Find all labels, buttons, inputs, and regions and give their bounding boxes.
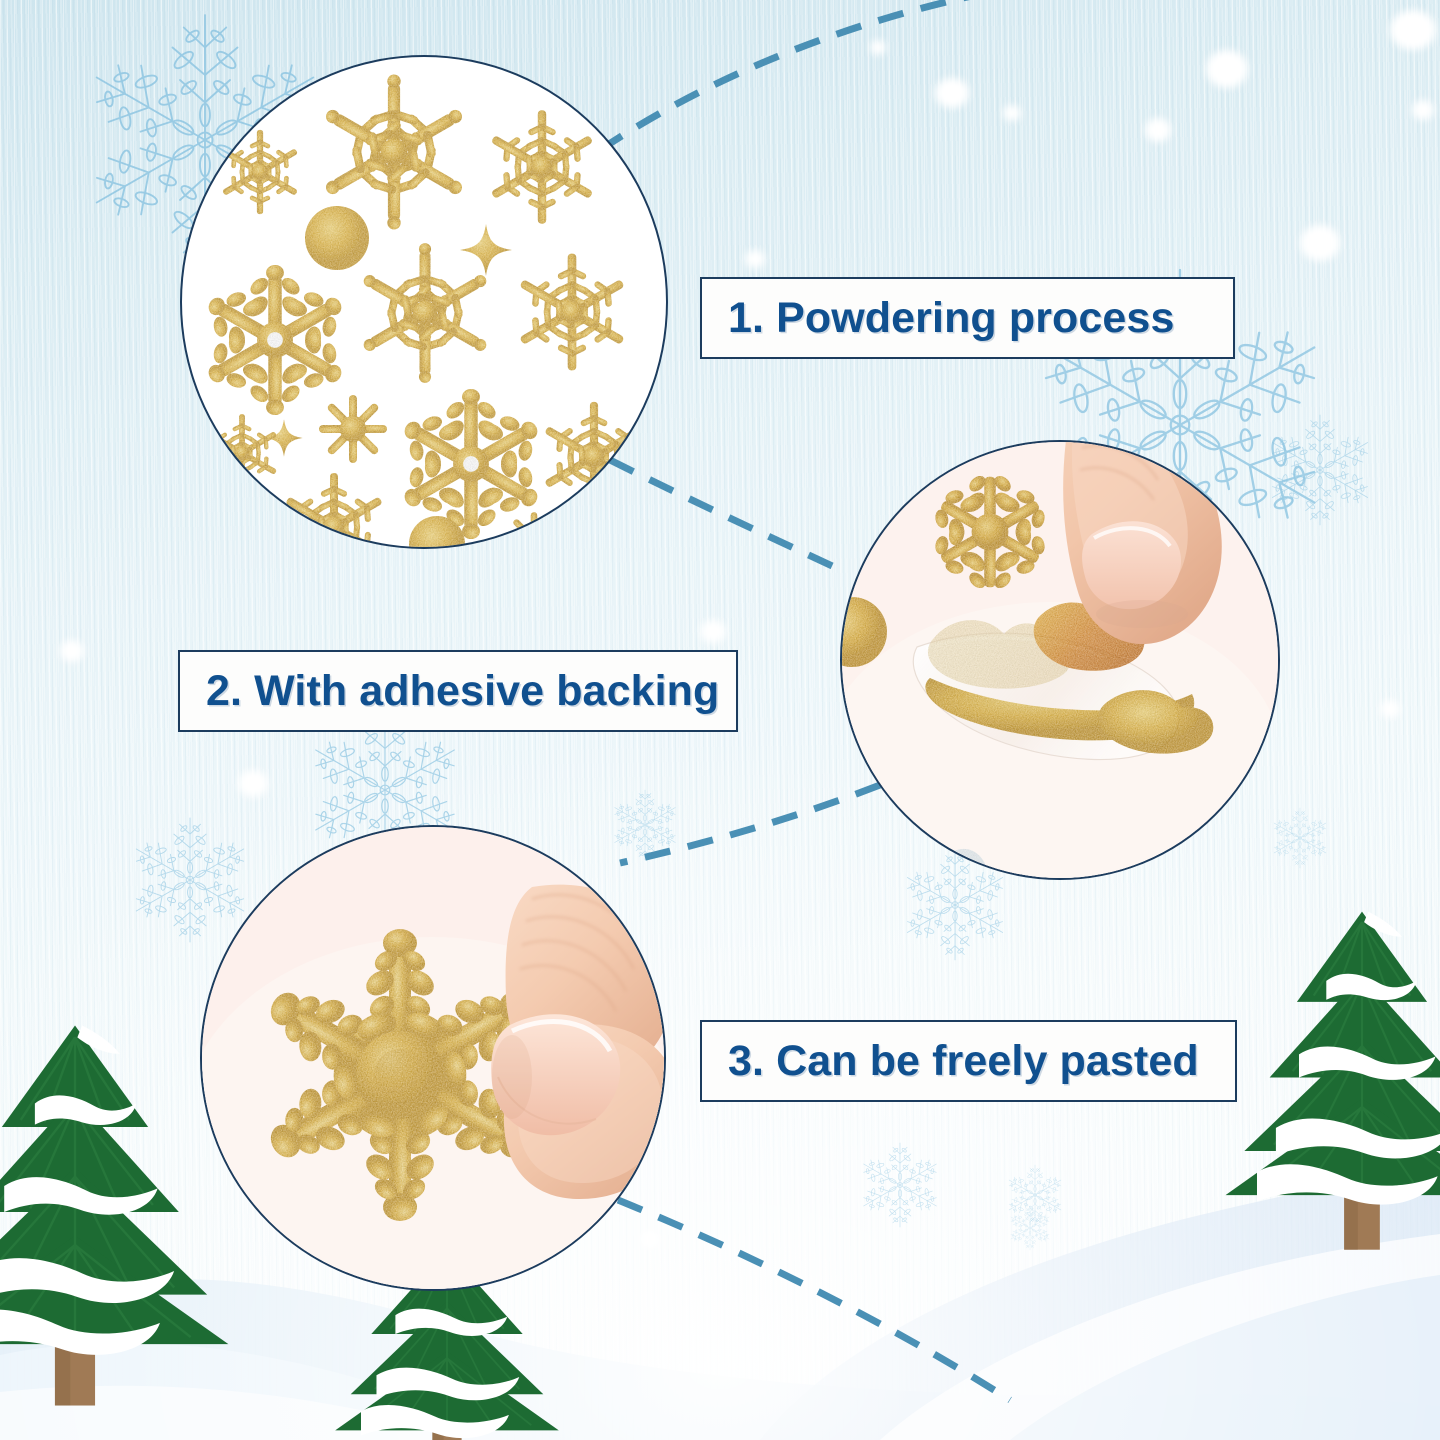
sticker-snowflake bbox=[195, 410, 290, 496]
sticker-snowflake bbox=[390, 389, 552, 539]
step-3-label-text: 3. Can be freely pasted bbox=[728, 1037, 1199, 1086]
sticker-snowflake bbox=[506, 512, 562, 547]
step-3-label-box: 3. Can be freely pasted bbox=[700, 1020, 1237, 1102]
step-1-label-text: 1. Powdering process bbox=[728, 294, 1174, 343]
connector-3-to-bottom bbox=[618, 1200, 1010, 1400]
sticker-snowflake bbox=[319, 395, 387, 463]
sticker-snowflake bbox=[348, 243, 503, 383]
step-1-label-box: 1. Powdering process bbox=[700, 277, 1235, 359]
sticker-snowflake bbox=[268, 467, 399, 547]
sticker-snowflake bbox=[209, 125, 311, 218]
sticker-snowflake bbox=[501, 248, 643, 377]
finger-holding bbox=[491, 885, 664, 1199]
step-3-photo-circle bbox=[200, 825, 666, 1291]
step-1-photo-circle bbox=[180, 55, 668, 549]
sticker-snowflake bbox=[194, 265, 356, 415]
sticker-snowflake bbox=[527, 396, 661, 518]
sticker-sparkle bbox=[460, 224, 512, 276]
step-2-photo-circle bbox=[840, 440, 1280, 880]
step-2-label-box: 2. With adhesive backing bbox=[178, 650, 738, 732]
step-2-label-text: 2. With adhesive backing bbox=[206, 667, 719, 716]
infographic-canvas: 1. Powdering process 2. With adhesive ba… bbox=[0, 0, 1440, 1440]
sticker-snowflake bbox=[473, 104, 611, 229]
sticker-dot bbox=[305, 206, 369, 270]
